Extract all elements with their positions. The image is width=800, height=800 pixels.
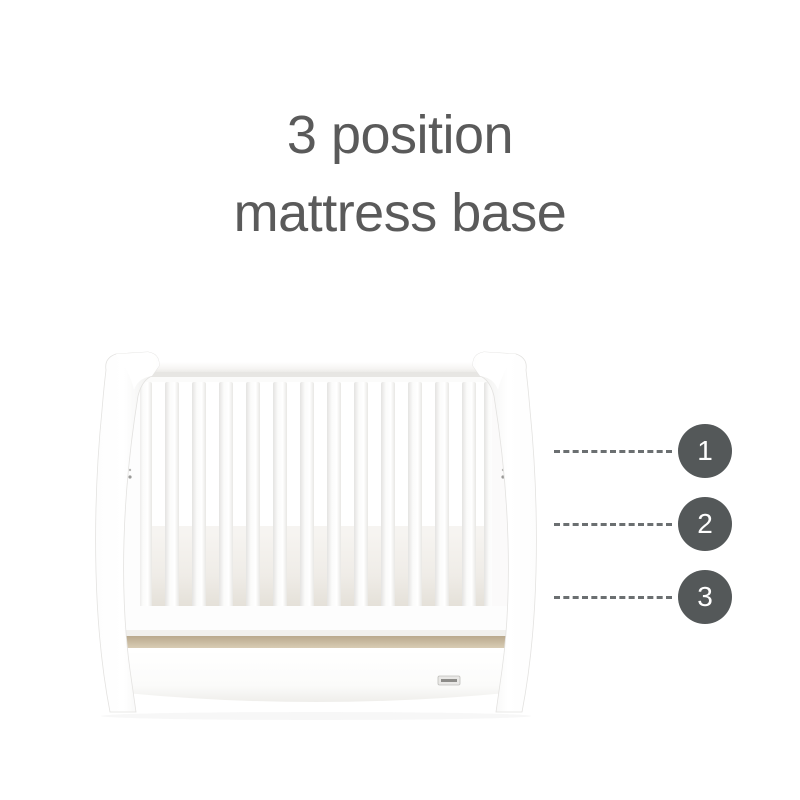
callout-leader-line-1 (554, 450, 672, 453)
callout-badge-3[interactable]: 3 (678, 570, 732, 624)
cot-bed-illustration (60, 340, 560, 720)
under-bed-drawer[interactable] (116, 648, 516, 702)
page-title-line-2: mattress base (0, 174, 800, 252)
drawer-cavity (116, 636, 516, 650)
screenshot-canvas: 3 position mattress base (0, 0, 800, 800)
callout-badge-2[interactable]: 2 (678, 497, 732, 551)
page-title-line-1: 3 position (0, 96, 800, 174)
top-rail (112, 362, 520, 382)
callout-badge-1[interactable]: 1 (678, 424, 732, 478)
callout-leader-line-2 (554, 523, 672, 526)
ground-shadow (101, 712, 531, 720)
product-image (60, 340, 560, 720)
callout-3[interactable]: 3 (554, 569, 732, 625)
callout-2[interactable]: 2 (554, 496, 732, 552)
page-title: 3 position mattress base (0, 96, 800, 252)
base-rail (112, 606, 520, 636)
callout-1[interactable]: 1 (554, 423, 732, 479)
callout-leader-line-3 (554, 596, 672, 599)
